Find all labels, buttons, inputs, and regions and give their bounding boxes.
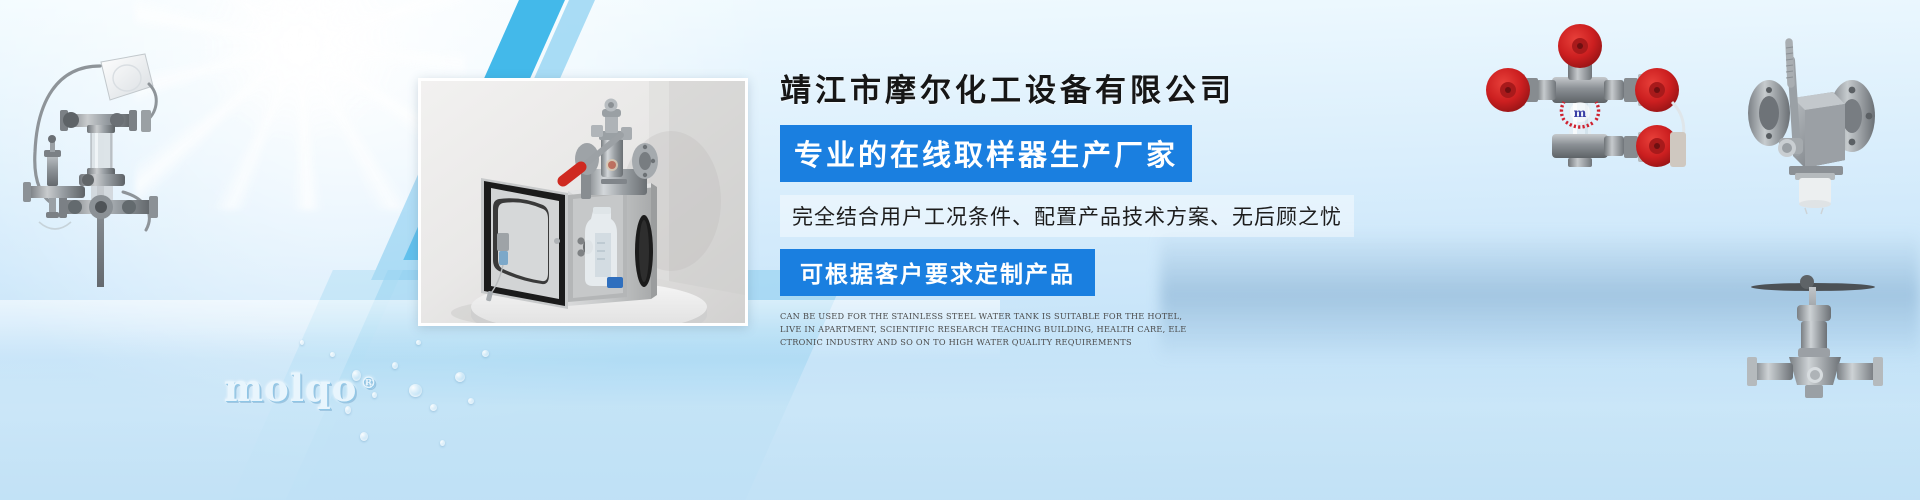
headline-copy-block: 靖江市摩尔化工设备有限公司 专业的在线取样器生产厂家 完全结合用户工况条件、配置… xyxy=(780,72,1400,350)
product-photo-sampler-cabinet xyxy=(418,78,748,326)
water-droplet xyxy=(416,340,421,345)
watermark-logo-text: molqo xyxy=(224,366,357,410)
promo-banner: m xyxy=(0,0,1920,500)
water-droplet xyxy=(430,404,437,411)
water-droplet xyxy=(409,384,422,397)
headline-primary: 专业的在线取样器生产厂家 xyxy=(780,125,1192,182)
water-droplet xyxy=(482,350,489,357)
equip-lever-valve-illustration xyxy=(1705,20,1910,215)
equip-valve-manifold-illustration: m xyxy=(1480,22,1695,167)
water-droplet xyxy=(300,340,304,345)
registered-trademark-icon: ® xyxy=(360,373,377,392)
water-droplet xyxy=(440,440,445,446)
company-name: 靖江市摩尔化工设备有限公司 xyxy=(780,72,1400,111)
water-droplet xyxy=(330,352,335,357)
water-droplet xyxy=(360,432,368,441)
headline-secondary: 完全结合用户工况条件、配置产品技术方案、无后顾之忧 xyxy=(780,195,1354,237)
water-droplet xyxy=(392,362,398,369)
water-droplet xyxy=(468,398,474,404)
equip-left-sampler-illustration xyxy=(5,22,180,287)
english-caption: CAN BE USED FOR THE STAINLESS STEEL WATE… xyxy=(780,310,1188,350)
svg-text:m: m xyxy=(1574,106,1587,120)
water-droplet xyxy=(455,372,465,382)
headline-tertiary: 可根据客户要求定制产品 xyxy=(780,249,1095,296)
watermark-logo: molqo® xyxy=(224,366,377,410)
equip-needle-valve-illustration xyxy=(1745,235,1920,400)
